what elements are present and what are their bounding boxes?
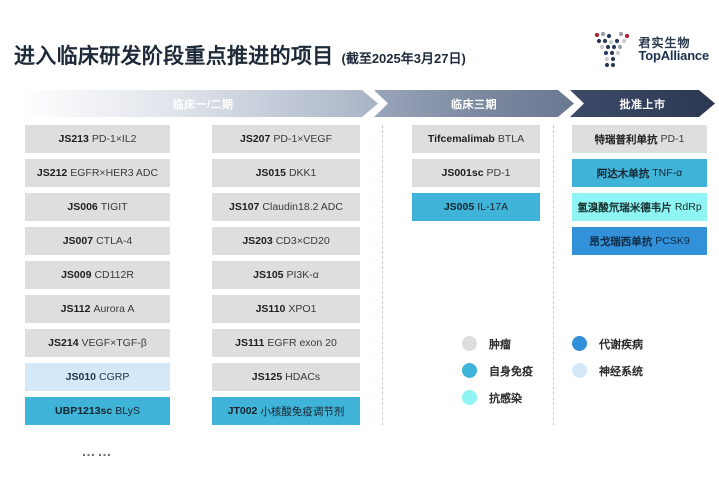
legend-label: 代谢疾病 [599, 336, 643, 352]
pipeline-card[interactable]: 特瑞普利单抗PD-1 [572, 125, 707, 153]
logo-name-en: TopAlliance [638, 49, 709, 63]
pipeline-card-target: EGFR exon 20 [267, 337, 336, 349]
pipeline-card-target: VEGF×TGF-β [82, 337, 147, 349]
stage-label: 临床三期 [451, 96, 497, 112]
pipeline-card-target: EGFR×HER3 ADC [70, 167, 158, 179]
pipeline-card-target: Aurora A [93, 303, 134, 315]
pipeline-card-code: JS125 [252, 371, 282, 383]
pipeline-card-target: DKK1 [289, 167, 316, 179]
pipeline-card-target: PI3K-α [287, 269, 319, 281]
pipeline-column-approved: 特瑞普利单抗PD-1阿达木单抗TNF-α氢溴酸氘瑞米德韦片RdRp昂戈瑞西单抗P… [572, 125, 707, 261]
pipeline-card-target: TNF-α [652, 167, 682, 179]
legend-color-dot-icon [572, 336, 587, 351]
legend-item-neuro: 神经系统 [572, 363, 682, 379]
pipeline-card-code: JS005 [444, 201, 474, 213]
legend-item-tumor: 肿瘤 [462, 336, 572, 352]
pipeline-card[interactable]: 阿达木单抗TNF-α [572, 159, 707, 187]
pipeline-card-target: 小核酸免疫调节剂 [260, 404, 344, 419]
pipeline-card-target: BTLA [498, 133, 524, 145]
legend-color-dot-icon [462, 336, 477, 351]
column-ellipsis: …… [25, 443, 170, 459]
legend-label: 肿瘤 [489, 336, 511, 352]
page-title: 进入临床研发阶段重点推进的项目 [14, 40, 334, 70]
page-header: 进入临床研发阶段重点推进的项目 (截至2025年3月27日) [0, 0, 719, 85]
pipeline-card-code: JS105 [253, 269, 283, 281]
y-dot-logo-icon [590, 30, 634, 70]
pipeline-card[interactable]: JS110XPO1 [212, 295, 360, 323]
stage-label: 批准上市 [620, 96, 666, 112]
pipeline-card-code: JS010 [66, 371, 96, 383]
pipeline-card-target: PD-1×IL2 [92, 133, 137, 145]
pipeline-card[interactable]: JS007CTLA-4 [25, 227, 170, 255]
pipeline-card-code: JS111 [235, 337, 264, 349]
pipeline-card-target: IL-17A [477, 201, 508, 213]
pipeline-card-code: JS007 [63, 235, 93, 247]
stage-phase-3: 临床三期 [374, 90, 574, 117]
pipeline-card-target: Claudin18.2 ADC [262, 201, 343, 213]
pipeline-card-target: TIGIT [101, 201, 128, 213]
pipeline-card[interactable]: JS125HDACs [212, 363, 360, 391]
stage-phase-1-2: 临床一/二期 [18, 90, 378, 117]
pipeline-card-code: 氢溴酸氘瑞米德韦片 [577, 200, 672, 215]
pipeline-card-target: CGRP [99, 371, 129, 383]
pipeline-column-phase3: TifcemalimabBTLAJS001scPD-1JS005IL-17A [412, 125, 540, 227]
pipeline-card[interactable]: JS001scPD-1 [412, 159, 540, 187]
pipeline-card-code: JS006 [67, 201, 97, 213]
pipeline-card-code: JT002 [228, 405, 258, 417]
pipeline-card-code: JS213 [58, 133, 88, 145]
page-title-date: (截至2025年3月27日) [342, 48, 466, 67]
pipeline-card-code: 阿达木单抗 [597, 166, 650, 181]
pipeline-card-target: HDACs [285, 371, 320, 383]
legend-color-dot-icon [572, 363, 587, 378]
pipeline-card[interactable]: JS005IL-17A [412, 193, 540, 221]
pipeline-card-code: JS015 [256, 167, 286, 179]
pipeline-card[interactable]: JS009CD112R [25, 261, 170, 289]
pipeline-card[interactable]: JS111EGFR exon 20 [212, 329, 360, 357]
pipeline-card-target: PCSK9 [655, 235, 689, 247]
pipeline-card[interactable]: JT002小核酸免疫调节剂 [212, 397, 360, 425]
column-divider [382, 125, 383, 425]
pipeline-card[interactable]: JS207PD-1×VEGF [212, 125, 360, 153]
pipeline-card[interactable]: JS006TIGIT [25, 193, 170, 221]
pipeline-card-code: Tifcemalimab [428, 133, 495, 145]
pipeline-card-target: PD-1×VEGF [273, 133, 332, 145]
pipeline-card[interactable]: JS010CGRP [25, 363, 170, 391]
pipeline-card-code: JS009 [61, 269, 91, 281]
pipeline-card-target: PD-1 [487, 167, 511, 179]
category-legend: 肿瘤代谢疾病自身免疫神经系统抗感染 [462, 330, 712, 411]
pipeline-card[interactable]: JS212EGFR×HER3 ADC [25, 159, 170, 187]
pipeline-card[interactable]: JS112Aurora A [25, 295, 170, 323]
pipeline-board: JS213PD-1×IL2JS212EGFR×HER3 ADCJS006TIGI… [0, 125, 719, 477]
pipeline-card-target: XPO1 [288, 303, 316, 315]
pipeline-card[interactable]: JS015DKK1 [212, 159, 360, 187]
pipeline-card-target: PD-1 [661, 133, 685, 145]
pipeline-card-code: 昂戈瑞西单抗 [589, 234, 652, 249]
pipeline-card-code: JS107 [229, 201, 259, 213]
pipeline-card-target: CD3×CD20 [276, 235, 330, 247]
pipeline-card[interactable]: TifcemalimabBTLA [412, 125, 540, 153]
pipeline-card-code: UBP1213sc [55, 405, 112, 417]
pipeline-card[interactable]: JS214VEGF×TGF-β [25, 329, 170, 357]
pipeline-card-code: JS212 [37, 167, 67, 179]
pipeline-card[interactable]: 氢溴酸氘瑞米德韦片RdRp [572, 193, 707, 221]
pipeline-card-target: CTLA-4 [96, 235, 132, 247]
pipeline-card[interactable]: JS105PI3K-α [212, 261, 360, 289]
pipeline-card[interactable]: JS213PD-1×IL2 [25, 125, 170, 153]
title-block: 进入临床研发阶段重点推进的项目 (截至2025年3月27日) [14, 40, 466, 70]
pipeline-card-target: BLyS [115, 405, 140, 417]
pipeline-card[interactable]: JS203CD3×CD20 [212, 227, 360, 255]
legend-item-autoimmune: 自身免疫 [462, 363, 572, 379]
legend-label: 抗感染 [489, 390, 522, 406]
legend-item-antiinfect: 抗感染 [462, 390, 572, 406]
legend-color-dot-icon [462, 363, 477, 378]
pipeline-card[interactable]: JS107Claudin18.2 ADC [212, 193, 360, 221]
pipeline-card-code: JS001sc [442, 167, 484, 179]
pipeline-card-code: 特瑞普利单抗 [595, 132, 658, 147]
pipeline-card[interactable]: 昂戈瑞西单抗PCSK9 [572, 227, 707, 255]
pipeline-card-code: JS214 [48, 337, 78, 349]
company-logo: 君实生物 TopAlliance [590, 30, 709, 70]
legend-label: 神经系统 [599, 363, 643, 379]
pipeline-card-code: JS112 [61, 303, 91, 315]
pipeline-card-target: RdRp [675, 201, 702, 213]
pipeline-card[interactable]: UBP1213scBLyS [25, 397, 170, 425]
stage-approved: 批准上市 [570, 90, 715, 117]
pipeline-column-phase12-b: JS207PD-1×VEGFJS015DKK1JS107Claudin18.2 … [212, 125, 360, 431]
legend-color-dot-icon [462, 390, 477, 405]
stage-label: 临床一/二期 [172, 96, 233, 112]
legend-item-metabolic: 代谢疾病 [572, 336, 682, 352]
pipeline-card-code: JS203 [242, 235, 272, 247]
pipeline-card-code: JS110 [256, 303, 286, 315]
pipeline-column-phase12-a: JS213PD-1×IL2JS212EGFR×HER3 ADCJS006TIGI… [25, 125, 170, 459]
legend-label: 自身免疫 [489, 363, 533, 379]
logo-text: 君实生物 TopAlliance [638, 37, 709, 63]
pipeline-card-target: CD112R [94, 269, 134, 281]
pipeline-card-code: JS207 [240, 133, 270, 145]
stage-bar: 临床一/二期 临床三期 批准上市 [0, 90, 719, 117]
